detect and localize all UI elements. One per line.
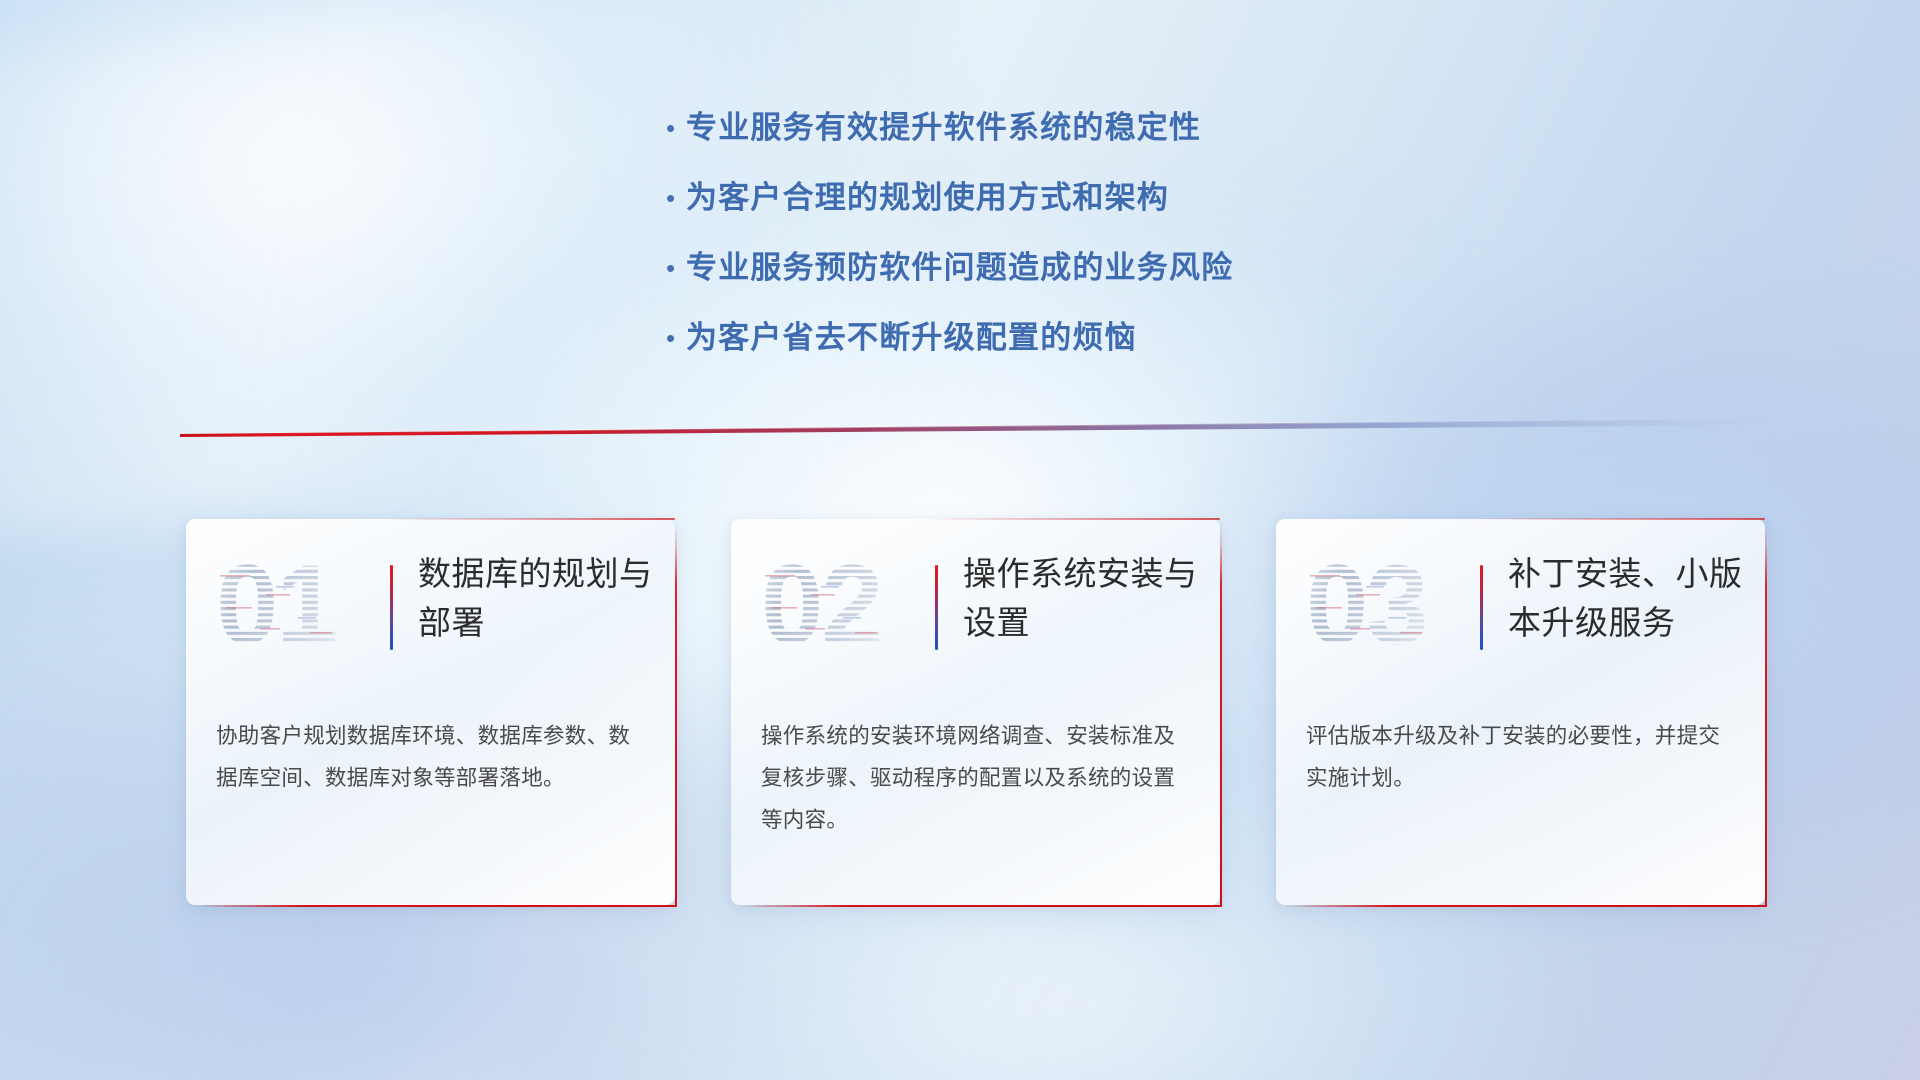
bullet-text: 专业服务有效提升软件系统的稳定性	[686, 106, 1201, 150]
bullet-text: 专业服务预防软件问题造成的业务风险	[686, 246, 1233, 290]
service-card-01[interactable]: 01 数据库的规划与部署 协助客户规划数据库环境、数据库参数、数据库空间	[186, 519, 675, 905]
bullet-text: 为客户省去不断升级配置的烦恼	[686, 316, 1137, 360]
benefits-bullet-list: • 专业服务有效提升软件系统的稳定性 • 为客户合理的规划使用方式和架构 • 专…	[660, 106, 1480, 386]
list-item: • 专业服务预防软件问题造成的业务风险	[660, 246, 1480, 290]
bullet-dot-icon: •	[660, 106, 686, 150]
tapered-divider-shape	[180, 418, 1780, 440]
section-divider	[180, 418, 1780, 440]
striped-number-03-icon: 03	[1304, 545, 1460, 663]
card-header: 01 数据库的规划与部署	[186, 519, 675, 709]
card-title-separator	[390, 565, 393, 650]
card-header: 02 操作系统安装与设置	[731, 519, 1220, 709]
list-item: • 专业服务有效提升软件系统的稳定性	[660, 106, 1480, 150]
list-item: • 为客户省去不断升级配置的烦恼	[660, 316, 1480, 360]
service-card-03[interactable]: 03 补丁安装、小版本升级服务 评估版本升级及补丁安装的必要性，并提交实	[1276, 519, 1765, 905]
card-header: 03 补丁安装、小版本升级服务	[1276, 519, 1765, 709]
card-title: 操作系统安装与设置	[963, 549, 1203, 647]
bullet-dot-icon: •	[660, 176, 686, 220]
card-title-separator	[1480, 565, 1483, 650]
svg-text:01: 01	[216, 545, 337, 663]
bullet-dot-icon: •	[660, 246, 686, 290]
card-description: 评估版本升级及补丁安装的必要性，并提交实施计划。	[1306, 715, 1737, 799]
card-number-02-graphic: 02	[759, 545, 915, 663]
service-cards-row: 01 数据库的规划与部署 协助客户规划数据库环境、数据库参数、数据库空间	[186, 519, 1766, 905]
service-card-02[interactable]: 02 操作系统安装与设置 操作系统的安装环境网络调查、安装标准及复核步骤	[731, 519, 1220, 905]
bullet-dot-icon: •	[660, 316, 686, 360]
card-description: 协助客户规划数据库环境、数据库参数、数据库空间、数据库对象等部署落地。	[216, 715, 647, 799]
card-accent-bottom	[741, 905, 1222, 908]
striped-number-01-icon: 01	[214, 545, 370, 663]
svg-text:03: 03	[1306, 545, 1427, 663]
card-accent-bottom	[1286, 905, 1767, 908]
card-title: 补丁安装、小版本升级服务	[1508, 549, 1748, 647]
card-title-separator	[935, 565, 938, 650]
card-description: 操作系统的安装环境网络调查、安装标准及复核步骤、驱动程序的配置以及系统的设置等内…	[761, 715, 1192, 841]
bullet-text: 为客户合理的规划使用方式和架构	[686, 176, 1169, 220]
list-item: • 为客户合理的规划使用方式和架构	[660, 176, 1480, 220]
striped-number-02-icon: 02	[759, 545, 915, 663]
card-title: 数据库的规划与部署	[418, 549, 658, 647]
card-number-03-graphic: 03	[1304, 545, 1460, 663]
card-number-01-graphic: 01	[214, 545, 370, 663]
svg-text:02: 02	[761, 545, 882, 663]
card-accent-bottom	[196, 905, 677, 908]
